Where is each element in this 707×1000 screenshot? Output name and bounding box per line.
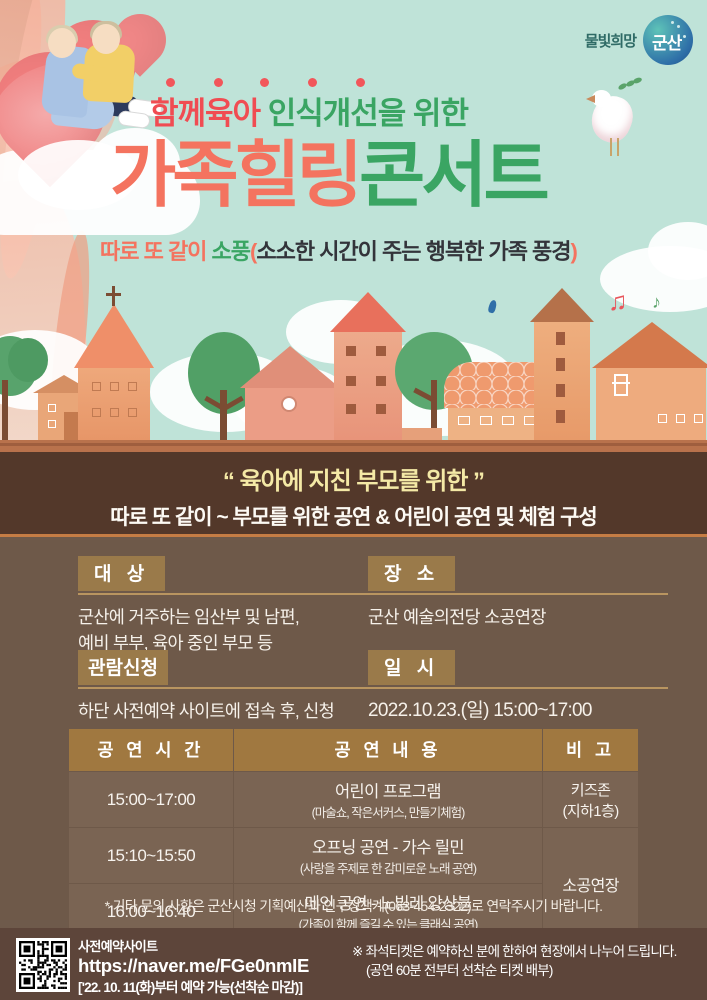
- title-line1-red: 함께육아: [150, 96, 260, 131]
- cell-note-sub-1: (지하1층): [545, 800, 636, 821]
- title-main: 가족힐링콘서트: [110, 133, 670, 219]
- info-rule-place: [368, 593, 668, 595]
- table-row: 15:10~15:50 오프닝 공연 - 가수 릴민 (사랑을 주제로 한 감미…: [69, 828, 639, 884]
- logo-slogan: 물빛희망: [585, 30, 636, 51]
- info-item-target: 대 상 군산에 거주하는 임산부 및 남편, 예비 부부, 육아 중인 부모 등: [78, 556, 368, 656]
- logo-mark-icon: 군산: [643, 15, 693, 65]
- col-header-time: 공 연 시 간: [69, 729, 234, 772]
- info-value-datetime: 2022.10.23.(일) 15:00~17:00: [368, 698, 668, 724]
- house-scallop-roof: [448, 406, 548, 440]
- hero-sky: 물빛희망 군산 함께육아 인식개선을 위한 가족힐링콘서트 따로 또 같이 소풍…: [0, 0, 707, 452]
- cell-note-merged: 소공연장: [543, 828, 639, 940]
- info-item-datetime: 일 시 2022.10.23.(일) 15:00~17:00: [368, 650, 668, 724]
- cell-note-main-2: 소공연장: [545, 872, 636, 896]
- logo-city-label: 군산: [652, 29, 681, 54]
- title-main-red: 가족힐링: [110, 136, 359, 216]
- cell-content-desc-2: (사랑을 주제로 한 감미로운 노래 공연): [236, 858, 540, 877]
- reservation-block: 사전예약사이트 https://naver.me/FGe0nmIE ['22. …: [78, 936, 309, 996]
- subtitle-green: 소풍: [212, 239, 250, 264]
- title-line1-green: 인식개선을 위한: [260, 96, 468, 131]
- reservation-period: ['22. 10. 11(화)부터 예약 가능(선착순 마감)]: [78, 976, 309, 996]
- cell-content-2: 오프닝 공연 - 가수 릴민 (사랑을 주제로 한 감미로운 노래 공연): [233, 828, 542, 884]
- title-dots-decor: [160, 78, 360, 88]
- info-value-apply: 하단 사전예약 사이트에 접속 후, 신청: [78, 698, 368, 724]
- col-header-note: 비 고: [543, 729, 639, 772]
- subtitle-dark: 소소한 시간이 주는 행복한 가족 풍경: [256, 239, 570, 264]
- cell-content-1: 어린이 프로그램 (마술쇼, 작은서커스, 만들기체험): [233, 772, 542, 828]
- info-rule-apply: [78, 687, 368, 689]
- info-item-apply: 관람신청 하단 사전예약 사이트에 접속 후, 신청: [78, 650, 368, 724]
- poster-root: 물빛희망 군산 함께육아 인식개선을 위한 가족힐링콘서트 따로 또 같이 소풍…: [0, 0, 707, 1000]
- small-bird-icon: [487, 299, 497, 313]
- title-main-green: 콘서트: [359, 136, 546, 216]
- ground-strip-shadow: [0, 443, 707, 446]
- quote-banner: “ 육아에 지친 부모를 위한 ” 따로 또 같이 ~ 부모를 위한 공연 & …: [0, 452, 707, 537]
- qr-code[interactable]: [16, 938, 70, 992]
- music-note-icon-1: ♫: [608, 286, 628, 317]
- reservation-label: 사전예약사이트: [78, 936, 309, 955]
- church-building: [78, 368, 150, 440]
- info-label-apply: 관람신청: [78, 650, 168, 685]
- cell-content-desc-1: (마술쇼, 작은서커스, 만들기체험): [236, 802, 540, 821]
- info-rule-datetime: [368, 687, 668, 689]
- title-line-1: 함께육아 인식개선을 위한: [150, 88, 620, 132]
- info-label-datetime: 일 시: [368, 650, 455, 685]
- table-row: 15:00~17:00 어린이 프로그램 (마술쇼, 작은서커스, 만들기체험)…: [69, 772, 639, 828]
- building-tower: [534, 322, 590, 440]
- town-illustration: ♫ ♪: [0, 272, 707, 452]
- info-label-target: 대 상: [78, 556, 165, 591]
- reservation-url[interactable]: https://naver.me/FGe0nmIE: [78, 955, 309, 976]
- banner-subline: 따로 또 같이 ~ 부모를 위한 공연 & 어린이 공연 및 체험 구성: [0, 501, 707, 531]
- ticket-notice: ※ 좌석티켓은 예약하신 분에 한하여 현장에서 나누어 드립니다. (공연 6…: [352, 942, 677, 980]
- house-striped-roof: [596, 368, 706, 440]
- bottom-bar: 사전예약사이트 https://naver.me/FGe0nmIE ['22. …: [0, 928, 707, 1000]
- cell-note-main-1: 키즈존: [545, 779, 636, 800]
- house-gable: [245, 388, 335, 440]
- ticket-notice-line2: (공연 60분 전부터 선착순 티켓 배부): [352, 961, 677, 980]
- cell-content-title-2: 오프닝 공연 - 가수 릴민: [236, 834, 540, 858]
- wall-low: [402, 428, 442, 440]
- table-header-row: 공 연 시 간 공 연 내 용 비 고: [69, 729, 639, 772]
- cell-content-title-1: 어린이 프로그램: [236, 778, 540, 802]
- gunsan-logo: 물빛희망 군산: [585, 14, 693, 66]
- cell-note-1: 키즈존 (지하1층): [543, 772, 639, 828]
- banner-quote: “ 육아에 지친 부모를 위한 ”: [0, 461, 707, 496]
- cell-time-2: 15:10~15:50: [69, 828, 234, 884]
- col-header-content: 공 연 내 용: [233, 729, 542, 772]
- subtitle-paren-close: ): [571, 239, 577, 264]
- info-label-place: 장 소: [368, 556, 455, 591]
- ticket-notice-line1: ※ 좌석티켓은 예약하신 분에 한하여 현장에서 나누어 드립니다.: [352, 942, 677, 961]
- ground-strip: [0, 440, 707, 452]
- cell-time-1: 15:00~17:00: [69, 772, 234, 828]
- info-value-place: 군산 예술의전당 소공연장: [368, 604, 668, 630]
- music-note-icon-2: ♪: [652, 292, 661, 313]
- building-tall-redroof: [334, 332, 402, 440]
- info-rule-target: [78, 593, 368, 595]
- subtitle-red: 따로 또 같이: [100, 239, 212, 264]
- info-value-target: 군산에 거주하는 임산부 및 남편, 예비 부부, 육아 중인 부모 등: [78, 604, 368, 656]
- info-item-place: 장 소 군산 예술의전당 소공연장: [368, 556, 668, 630]
- title-subtitle: 따로 또 같이 소풍(소소한 시간이 주는 행복한 가족 풍경): [100, 234, 640, 266]
- footnote-text: * 기타 문의 사항은 군산시청 기획예산과 인구정책계(063-454-232…: [0, 896, 707, 916]
